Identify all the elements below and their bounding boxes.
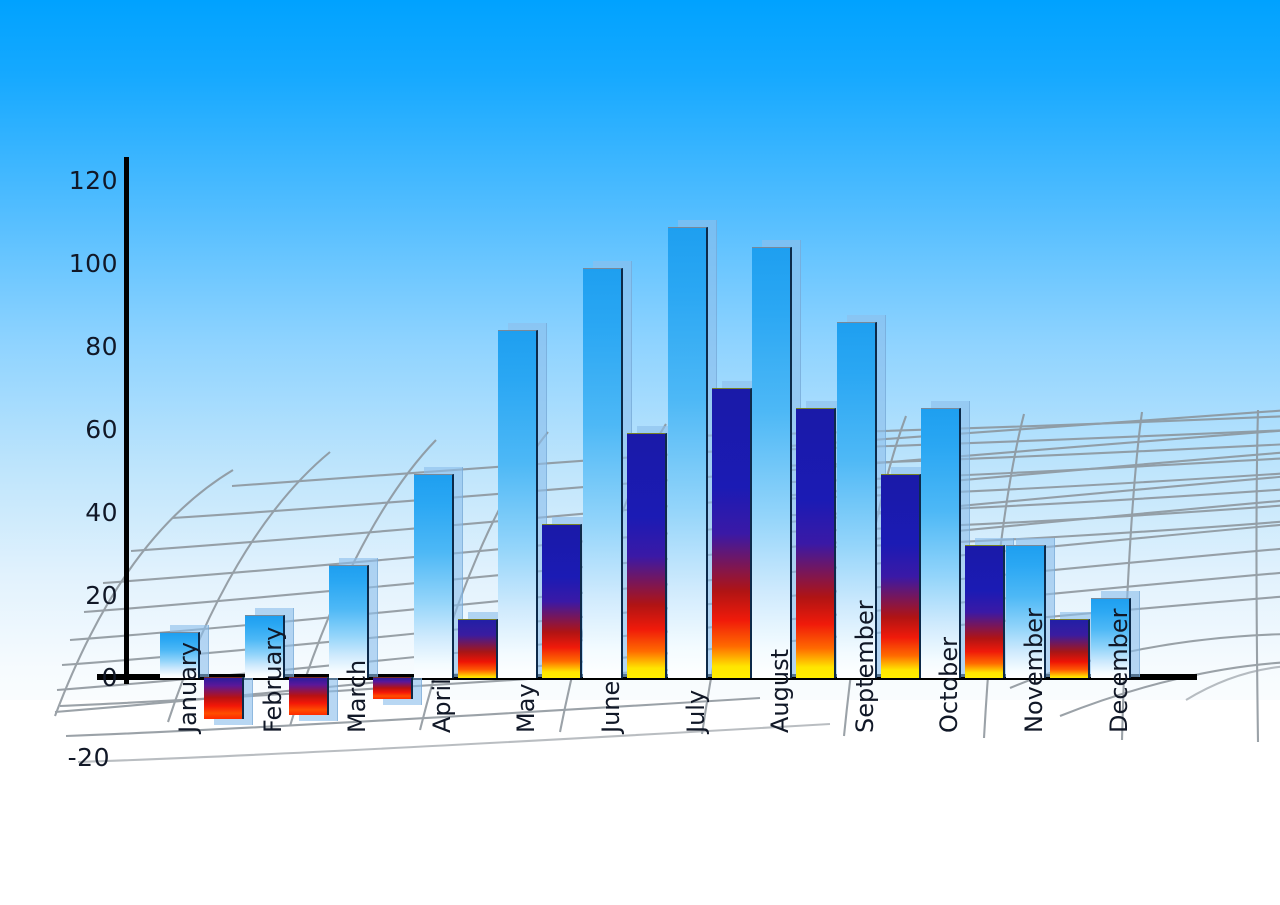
y-tick-label-60: 60	[58, 417, 118, 442]
plot-area: 120 100 80 60 40 20 0 -20 JanuaryFebruar…	[0, 0, 1280, 905]
x-axis-label-january: January	[174, 642, 202, 733]
x-axis-label-may: May	[512, 683, 540, 733]
bar-face	[796, 408, 836, 678]
x-axis-label-september: September	[851, 600, 879, 733]
bar-series2-february	[289, 677, 327, 714]
bar-series2-april	[458, 619, 496, 677]
bar-face	[458, 619, 498, 678]
bar-series2-september	[881, 474, 919, 677]
y-tick-label-neg20: -20	[50, 745, 110, 770]
bar-face	[542, 524, 582, 678]
y-tick-label-0: 0	[58, 665, 118, 690]
bar-series1-july	[668, 227, 706, 677]
bar-series1-june	[583, 268, 621, 677]
bar-series2-october	[965, 545, 1003, 677]
y-axis-line	[124, 157, 129, 684]
bar-face	[373, 677, 413, 699]
bar-face	[1050, 619, 1090, 678]
y-tick-label-80: 80	[58, 334, 118, 359]
bar-series1-august	[752, 247, 790, 677]
x-axis-label-july: July	[682, 690, 710, 733]
bar-face	[627, 433, 667, 678]
x-axis-label-april: April	[428, 678, 456, 733]
x-axis-label-november: November	[1020, 608, 1048, 733]
bar-series1-april	[414, 474, 452, 677]
bar-face	[204, 677, 244, 719]
y-tick-label-120: 120	[58, 168, 118, 193]
bar-face	[881, 474, 921, 678]
bar-series2-may	[542, 524, 580, 677]
x-axis-label-march: March	[343, 660, 371, 733]
chart-canvas: 120 100 80 60 40 20 0 -20 JanuaryFebruar…	[0, 0, 1280, 905]
bar-series2-january	[204, 677, 242, 718]
bar-series2-july	[712, 388, 750, 677]
bar-series2-june	[627, 433, 665, 677]
x-axis-label-august: August	[766, 649, 794, 733]
bar-face	[289, 677, 329, 715]
bar-series2-november	[1050, 619, 1088, 677]
x-axis-label-february: February	[259, 627, 287, 733]
y-tick-label-40: 40	[58, 500, 118, 525]
y-tick-label-20: 20	[58, 583, 118, 608]
bar-face	[965, 545, 1005, 678]
bar-series2-august	[796, 408, 834, 677]
bar-face	[752, 247, 792, 678]
bar-face	[668, 227, 708, 678]
x-axis-label-december: December	[1105, 609, 1133, 733]
bar-face	[498, 330, 538, 678]
bar-face	[712, 388, 752, 678]
bar-face	[583, 268, 623, 678]
y-tick-label-100: 100	[58, 251, 118, 276]
x-axis-label-june: June	[597, 681, 625, 733]
x-axis-label-october: October	[935, 637, 963, 733]
bar-face	[414, 474, 454, 678]
bar-series1-may	[498, 330, 536, 677]
bar-series2-march	[373, 677, 411, 698]
